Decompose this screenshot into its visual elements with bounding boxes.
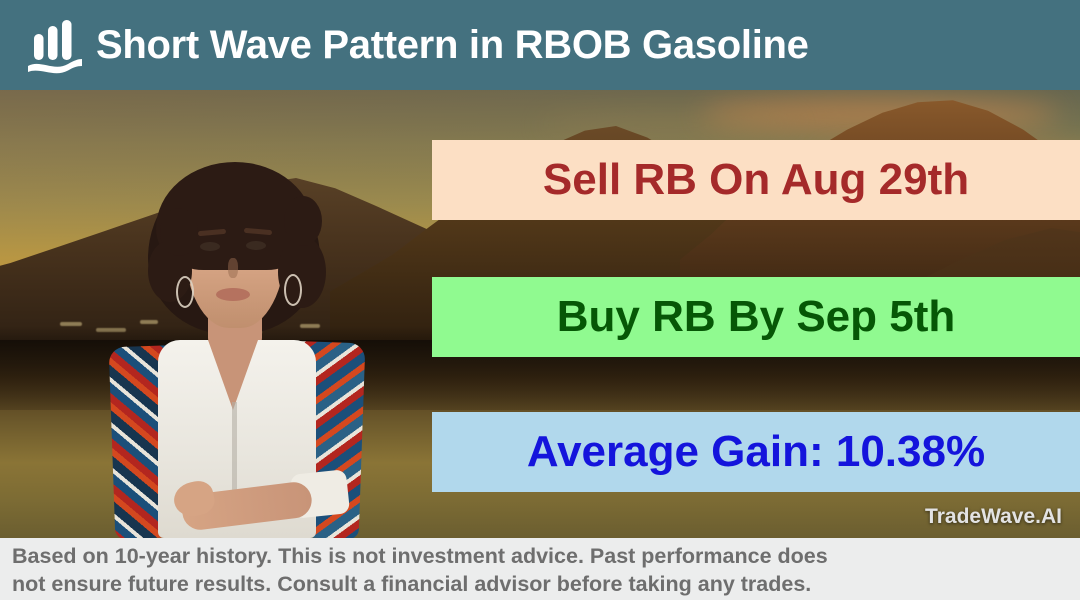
promotional-graphic: Short Wave Pattern in RBOB Gasoline Sell… (0, 0, 1080, 600)
callout-buy-signal: Buy RB By Sep 5th (432, 277, 1080, 357)
disclaimer-bar: Based on 10-year history. This is not in… (0, 538, 1080, 600)
bar-chart-wave-logo-icon (24, 14, 86, 76)
disclaimer-line-1: Based on 10-year history. This is not in… (12, 542, 1068, 570)
nose (228, 258, 238, 278)
callout-buy-text: Buy RB By Sep 5th (557, 295, 956, 339)
earring-left (176, 276, 194, 308)
eye-left (200, 242, 220, 251)
earring-right (284, 274, 302, 306)
callout-average-gain: Average Gain: 10.38% (432, 412, 1080, 492)
disclaimer-line-2: not ensure future results. Consult a fin… (12, 570, 1068, 598)
callout-gain-text: Average Gain: 10.38% (527, 430, 985, 474)
presenter-figure (96, 90, 406, 538)
brand-watermark: TradeWave.AI (925, 505, 1062, 529)
cloud-streak (540, 116, 800, 134)
callout-sell-text: Sell RB On Aug 29th (543, 158, 969, 202)
hair-curl (160, 208, 198, 256)
header-bar: Short Wave Pattern in RBOB Gasoline (0, 0, 1080, 90)
hair-curl (284, 196, 322, 246)
eye-right (246, 241, 266, 250)
page-title: Short Wave Pattern in RBOB Gasoline (96, 25, 809, 65)
callout-sell-signal: Sell RB On Aug 29th (432, 140, 1080, 220)
lips (216, 288, 250, 301)
